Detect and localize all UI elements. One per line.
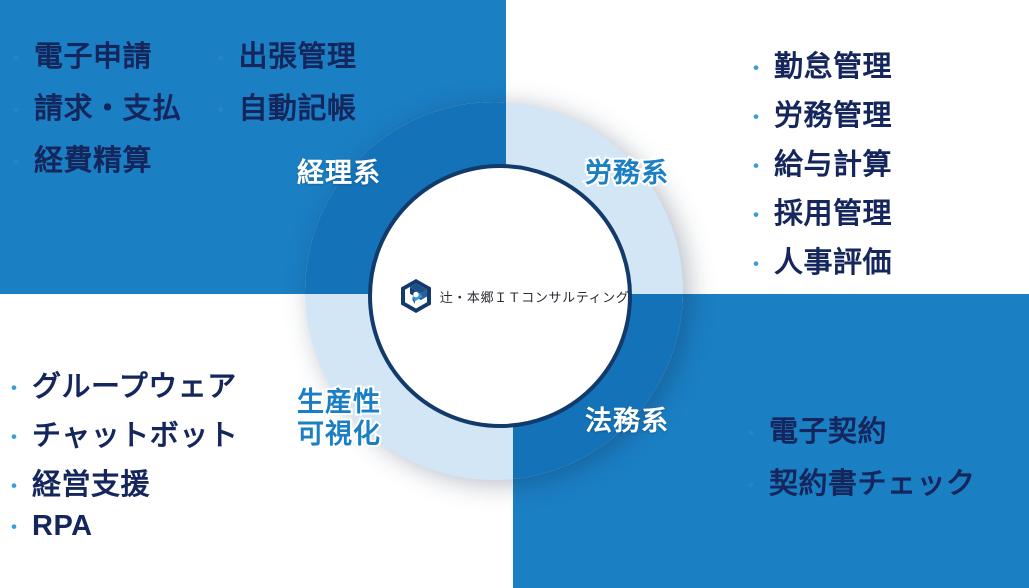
bullet-icon: ・ xyxy=(745,107,767,129)
bullet-icon: ・ xyxy=(5,48,27,70)
bullet-icon: ・ xyxy=(740,475,762,497)
list-keiri-column-2: ・ 出張管理 ・ 自動記帳 xyxy=(210,33,357,189)
tsuji-hongo-hexagon-logo-mark xyxy=(399,278,433,314)
list-item-label: 勤怠管理 xyxy=(774,43,892,85)
list-roumu: ・ 勤怠管理 ・ 労務管理 ・ 給与計算 ・ 採用管理 ・ 人事評価 xyxy=(745,43,892,288)
segment-label-seisan-line2: 可視化 xyxy=(297,419,381,451)
bullet-icon: ・ xyxy=(210,100,232,122)
list-item: ・ 採用管理 xyxy=(745,190,892,232)
bullet-icon: ・ xyxy=(3,378,25,400)
list-item-label: 労務管理 xyxy=(774,92,892,134)
list-item: ・ 給与計算 xyxy=(745,141,892,183)
list-item: ・ RPA xyxy=(3,510,238,543)
bullet-icon: ・ xyxy=(745,58,767,80)
list-item-label: 採用管理 xyxy=(774,190,892,232)
list-item-label: チャットボット xyxy=(32,412,238,454)
list-item-label: 請求・支払 xyxy=(34,85,182,127)
company-logo-text: 辻・本郷ＩＴコンサルティング xyxy=(440,287,630,306)
list-item: ・ 出張管理 xyxy=(210,33,357,75)
list-item-label: 電子契約 xyxy=(769,408,887,450)
company-logo: 辻・本郷ＩＴコンサルティング xyxy=(399,278,630,314)
list-item-label: RPA xyxy=(32,510,93,543)
list-item: ・ チャットボット xyxy=(3,412,238,454)
list-item: ・ 自動記帳 xyxy=(210,85,357,127)
bullet-icon: ・ xyxy=(5,152,27,174)
list-keiri: ・ 電子申請 ・ 請求・支払 ・ 経費精算 ・ 出張管理 ・ xyxy=(5,33,357,189)
list-item: ・ 請求・支払 xyxy=(5,85,182,127)
list-item: ・ 経営支援 xyxy=(3,461,238,503)
list-item-label: 人事評価 xyxy=(774,239,892,281)
segment-label-seisan-line1: 生産性 xyxy=(297,387,381,419)
list-keiri-column-1: ・ 電子申請 ・ 請求・支払 ・ 経費精算 xyxy=(5,33,182,189)
list-houmu: ・ 電子契約 ・ 契約書チェック xyxy=(740,408,976,512)
bullet-icon: ・ xyxy=(5,100,27,122)
list-item: ・ グループウェア xyxy=(3,363,238,405)
list-item-label: 電子申請 xyxy=(34,33,152,75)
bullet-icon: ・ xyxy=(740,423,762,445)
list-item: ・ 勤怠管理 xyxy=(745,43,892,85)
segment-label-seisan: 生産性 可視化 xyxy=(297,387,381,451)
list-item: ・ 人事評価 xyxy=(745,239,892,281)
bullet-icon: ・ xyxy=(3,427,25,449)
segment-label-roumu: 労務系 xyxy=(585,158,669,190)
diagram-canvas: 辻・本郷ＩＴコンサルティング 経理系 労務系 生産性 可視化 法務系 ・ 電子申… xyxy=(0,0,1029,588)
list-item-label: 経営支援 xyxy=(32,461,150,503)
list-item-label: 給与計算 xyxy=(774,141,892,183)
list-item: ・ 電子契約 xyxy=(740,408,976,450)
bullet-icon: ・ xyxy=(3,476,25,498)
bullet-icon: ・ xyxy=(3,517,25,539)
segment-label-houmu: 法務系 xyxy=(585,406,669,438)
list-item-label: 出張管理 xyxy=(239,33,357,75)
list-item: ・ 労務管理 xyxy=(745,92,892,134)
list-seisan: ・ グループウェア ・ チャットボット ・ 経営支援 ・ RPA xyxy=(3,363,238,550)
list-item-label: 契約書チェック xyxy=(769,460,976,502)
bullet-icon: ・ xyxy=(210,48,232,70)
list-item-label: グループウェア xyxy=(32,363,237,405)
bullet-icon: ・ xyxy=(745,156,767,178)
list-item-label: 経費精算 xyxy=(34,137,152,179)
bullet-icon: ・ xyxy=(745,254,767,276)
center-logo-container: 辻・本郷ＩＴコンサルティング xyxy=(368,164,632,428)
bullet-icon: ・ xyxy=(745,205,767,227)
list-item: ・ 契約書チェック xyxy=(740,460,976,502)
list-item-label: 自動記帳 xyxy=(239,85,357,127)
list-item: ・ 電子申請 xyxy=(5,33,182,75)
list-item: ・ 経費精算 xyxy=(5,137,182,179)
